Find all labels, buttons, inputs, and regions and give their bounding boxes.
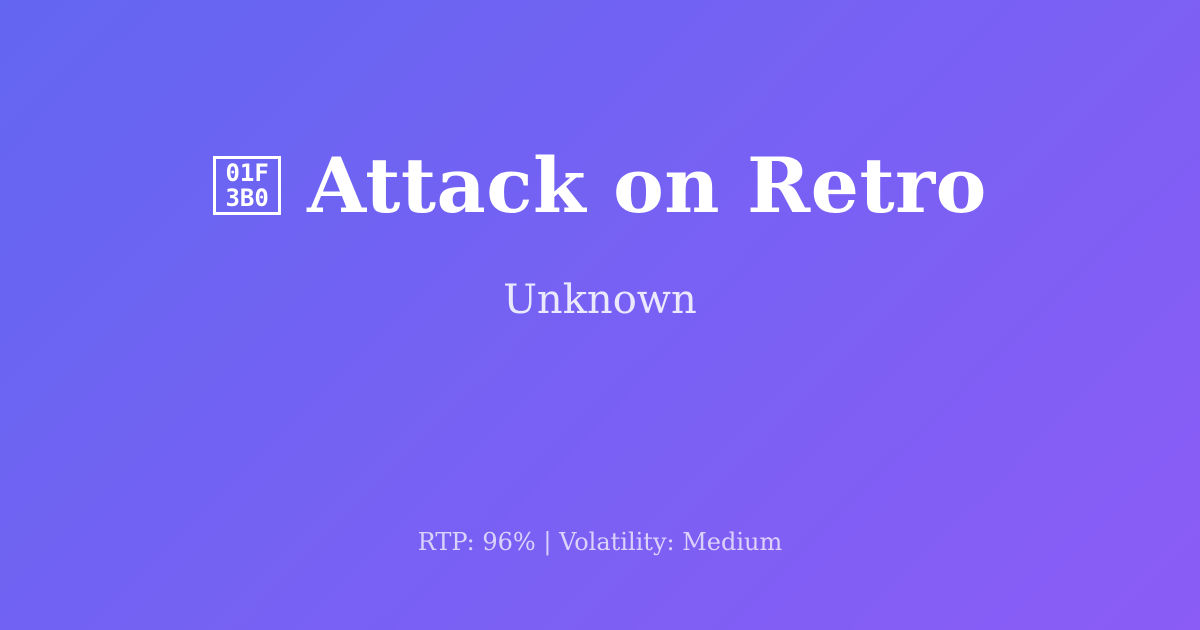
card-hero: 01F 3B0 Attack on Retro Unknown <box>0 0 1200 470</box>
page-title: Attack on Retro <box>307 146 987 226</box>
tofu-codepoint-top: 01F <box>225 161 268 186</box>
tofu-codepoint-bottom: 3B0 <box>225 186 268 211</box>
title-row: 01F 3B0 Attack on Retro <box>213 146 987 226</box>
card-subtitle: Unknown <box>503 276 697 324</box>
slot-machine-icon: 01F 3B0 <box>213 156 281 215</box>
card-meta-stats: RTP: 96% | Volatility: Medium <box>0 528 1200 557</box>
og-share-card: 01F 3B0 Attack on Retro Unknown RTP: 96%… <box>0 0 1200 630</box>
